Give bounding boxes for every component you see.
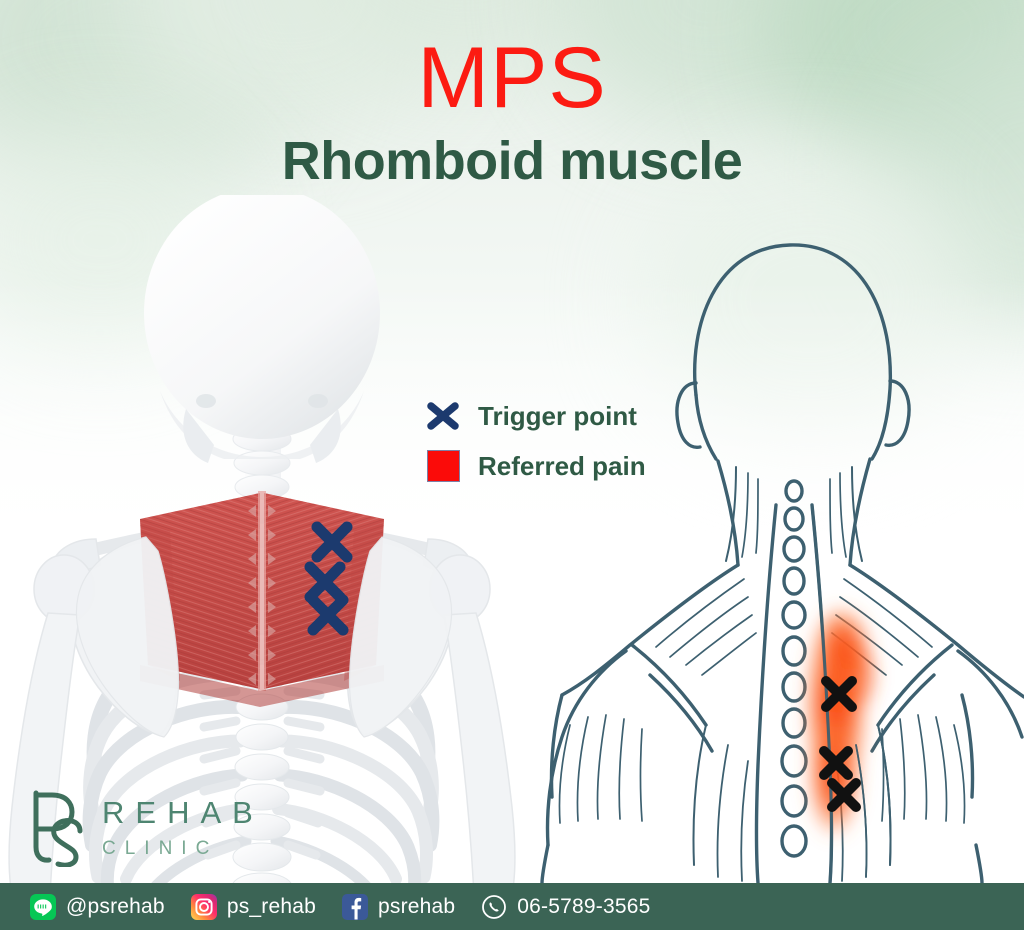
x-mark-icon [424, 400, 462, 432]
legend-item-referred-pain: Referred pain [424, 446, 646, 486]
red-square-icon [424, 450, 462, 482]
contact-instagram[interactable]: ps_rehab [191, 894, 316, 920]
contact-facebook[interactable]: psrehab [342, 894, 455, 920]
legend-label-referred-pain: Referred pain [478, 451, 646, 482]
skeleton-figure [0, 195, 530, 885]
contact-line-label: @psrehab [66, 895, 165, 919]
phone-icon [481, 894, 507, 920]
spine [782, 481, 806, 856]
page-subtitle: Rhomboid muscle [0, 132, 1024, 191]
brand-name: REHAB [102, 795, 264, 830]
referred-pain-figure [500, 205, 1024, 883]
brand-logo: REHAB CLINIC [22, 785, 264, 867]
poster-canvas: MPS Rhomboid muscle [0, 0, 1024, 930]
contact-phone-label: 06-5789-3565 [517, 895, 650, 919]
head-outline [695, 245, 891, 459]
legend-label-trigger-point: Trigger point [478, 401, 637, 432]
contact-instagram-label: ps_rehab [227, 895, 316, 919]
contact-facebook-label: psrehab [378, 895, 455, 919]
page-title: MPS [0, 36, 1024, 120]
brand-subtitle: CLINIC [102, 839, 264, 858]
contact-phone[interactable]: 06-5789-3565 [481, 894, 650, 920]
contact-footer: @psrehab [0, 883, 1024, 930]
title-block: MPS Rhomboid muscle [0, 36, 1024, 192]
instagram-icon [191, 894, 217, 920]
ps-monogram-icon [22, 785, 88, 867]
legend-item-trigger-point: Trigger point [424, 396, 646, 436]
contact-line[interactable]: @psrehab [30, 894, 165, 920]
line-icon [30, 894, 56, 920]
facebook-icon [342, 894, 368, 920]
skull [144, 195, 380, 463]
brand-logo-text: REHAB CLINIC [102, 785, 264, 858]
legend: Trigger point Referred pain [424, 396, 646, 496]
